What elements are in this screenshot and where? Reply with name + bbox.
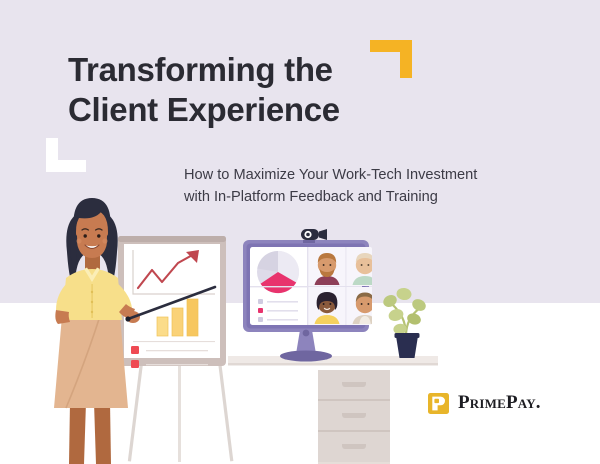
poster-canvas: Transforming the Client Experience How t…	[0, 0, 600, 464]
primepay-wordmark: PrimePay.	[458, 392, 541, 414]
background-band-upper	[0, 0, 600, 303]
page-title: Transforming the Client Experience	[68, 50, 488, 131]
background-band-lower	[0, 303, 600, 464]
subtitle-line-2: with In-Platform Feedback and Training	[184, 189, 438, 205]
primepay-mark-icon	[428, 393, 449, 414]
page-subtitle: How to Maximize Your Work-Tech Investmen…	[184, 164, 554, 208]
subtitle-line-1: How to Maximize Your Work-Tech Investmen…	[184, 167, 477, 183]
primepay-logo[interactable]: PrimePay.	[428, 392, 541, 414]
title-line-1: Transforming the	[68, 51, 333, 88]
title-line-2: Client Experience	[68, 90, 488, 130]
